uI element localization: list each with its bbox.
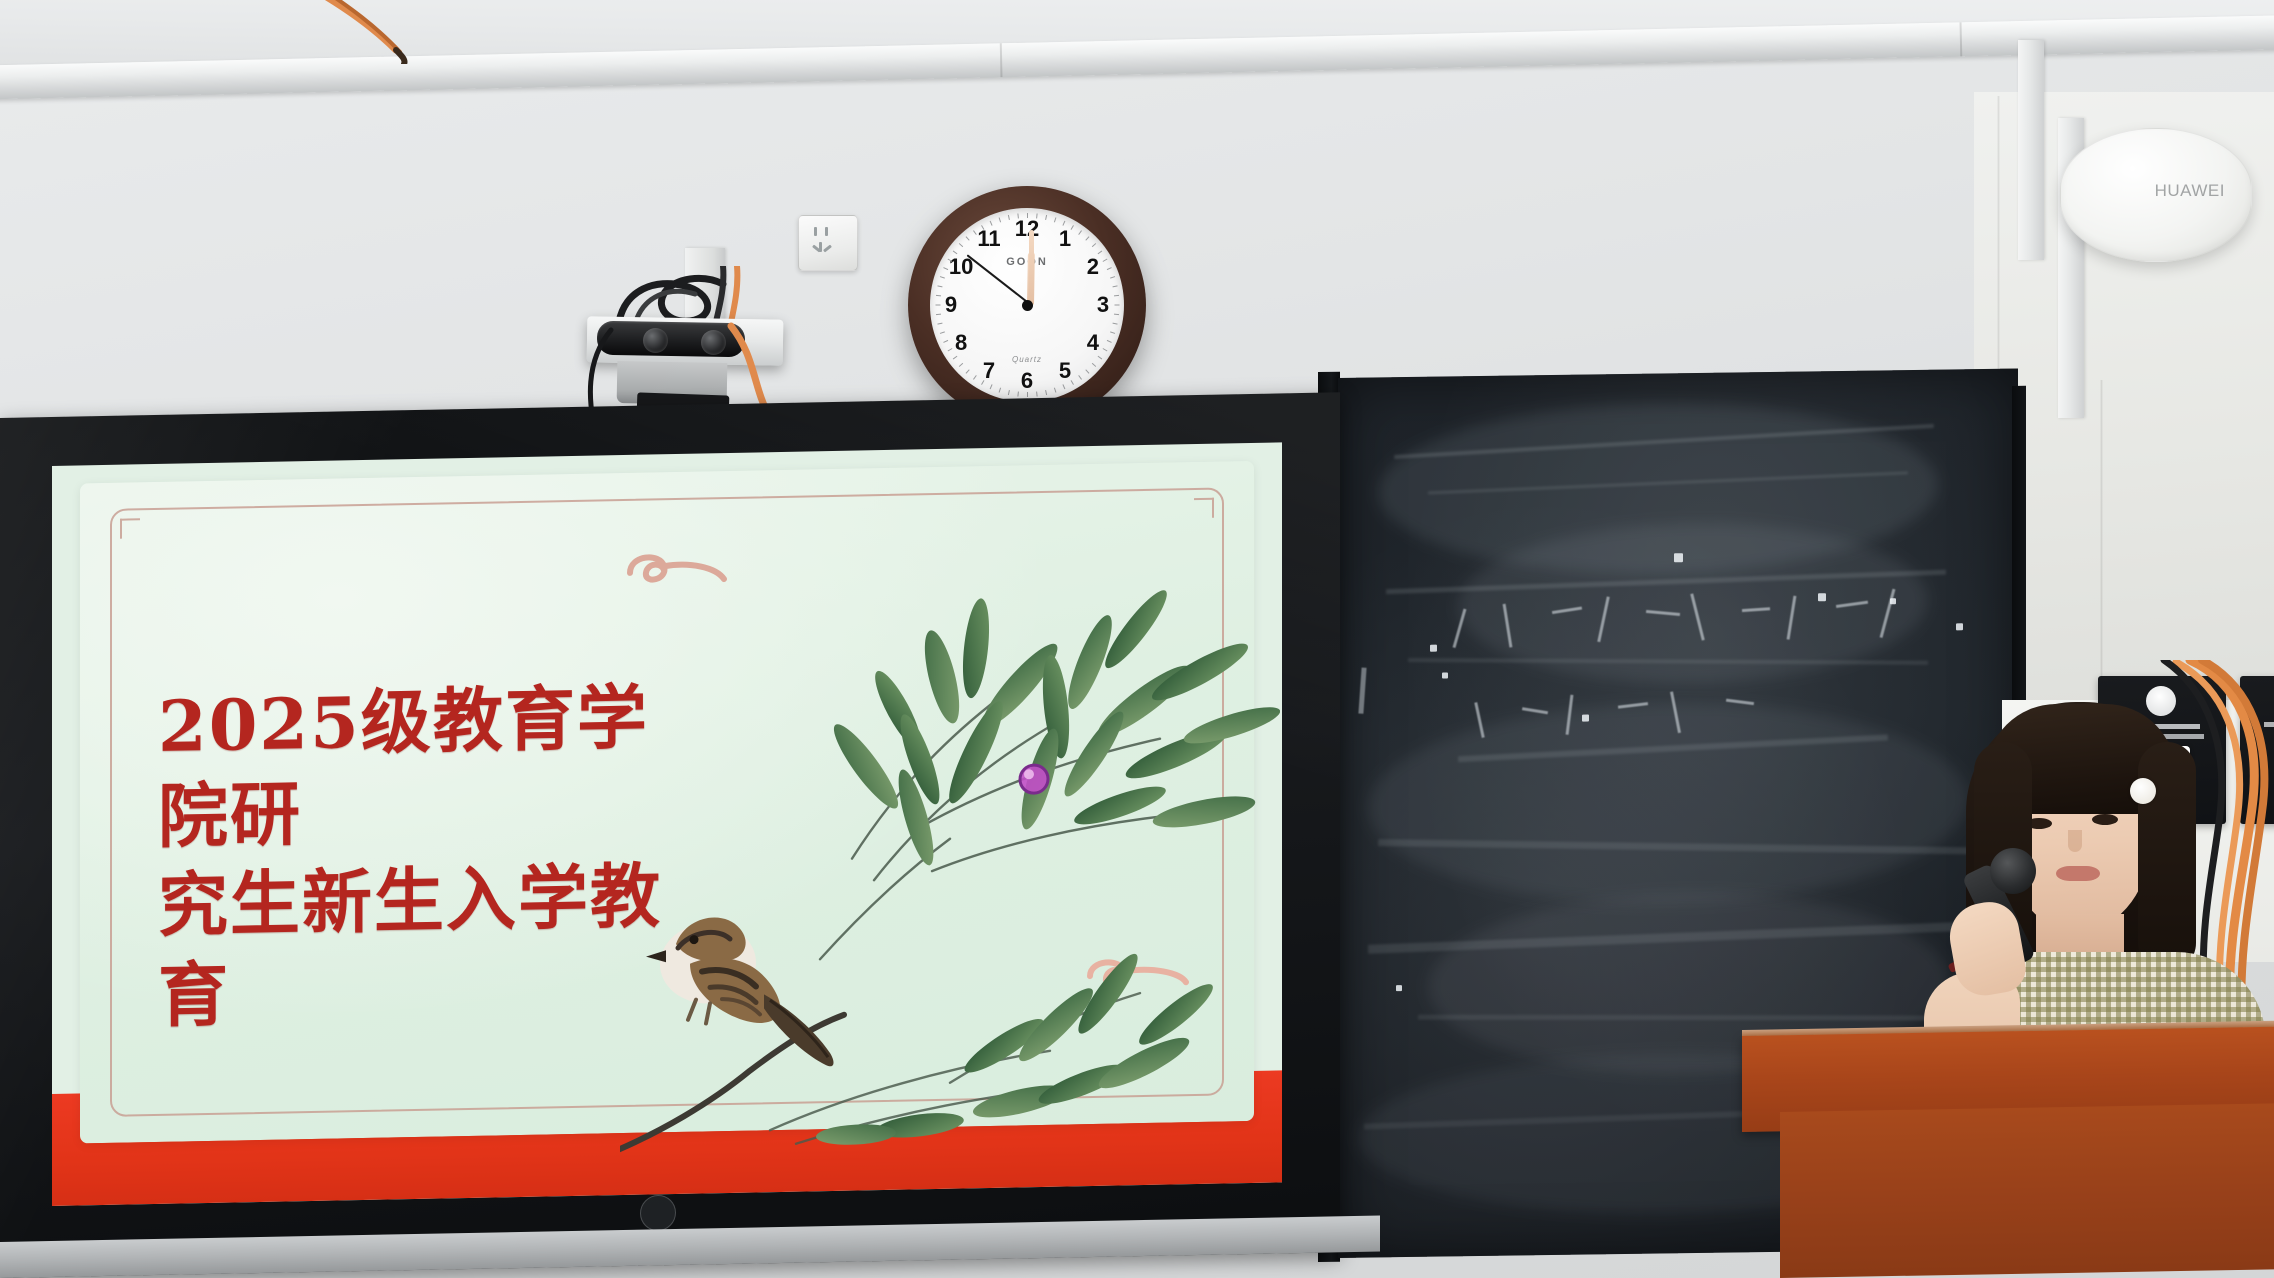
presenter-mouth	[2056, 866, 2100, 881]
clock-numeral-4: 4	[1080, 332, 1106, 354]
slide-title-line-2: 究生新生入学教育	[158, 851, 678, 1040]
presenter-hair-side-right	[2138, 742, 2196, 972]
wifi-access-point: HUAWEI	[2060, 128, 2252, 262]
wall-clock: GOON Quartz 121234567891011	[908, 186, 1146, 424]
ink-wash-bamboo-and-sparrow	[620, 520, 1280, 1153]
sparrow-icon	[646, 915, 833, 1070]
slide-title: 2025级教育学院研 究生新生入学教育	[158, 672, 678, 1040]
microphone-head-icon	[1990, 848, 2036, 894]
clock-numeral-5: 5	[1052, 360, 1078, 382]
clock-numeral-6: 6	[1014, 370, 1040, 392]
wifi-ap-brand: HUAWEI	[2155, 181, 2225, 201]
bamboo-leaves-lower	[816, 946, 1219, 1146]
wall-conduit-1	[2018, 40, 2044, 260]
clock-sub-label: Quartz	[930, 355, 1124, 364]
clock-numeral-12: 12	[1014, 218, 1040, 240]
slide-title-line-1: 2025级教育学院研	[158, 672, 678, 861]
clock-center-pin	[1022, 300, 1033, 311]
bamboo-leaves-upper	[826, 582, 1280, 870]
projector-lens-1	[643, 328, 668, 353]
clock-numeral-3: 3	[1090, 294, 1116, 316]
slide-corner-notch-tr	[1194, 498, 1214, 518]
clock-numeral-8: 8	[948, 332, 974, 354]
clock-numeral-9: 9	[938, 294, 964, 316]
slide-card: 2025级教育学院研 究生新生入学教育	[80, 461, 1254, 1144]
presentation-slide[interactable]: 2025级教育学院研 究生新生入学教育	[52, 442, 1282, 1206]
lectern-body	[1780, 1103, 2274, 1278]
clock-numeral-7: 7	[976, 360, 1002, 382]
clock-face: GOON Quartz 121234567891011	[930, 208, 1124, 402]
classroom-photo-scene: HUAWEI GOON Quartz	[0, 0, 2274, 1278]
clock-numeral-11: 11	[976, 228, 1002, 250]
presenter-nose	[2068, 830, 2082, 852]
wall-power-socket[interactable]	[798, 215, 858, 271]
laser-pointer-dot-icon	[1020, 765, 1048, 794]
clock-numeral-1: 1	[1052, 228, 1078, 250]
slide-corner-notch-tl	[120, 518, 140, 538]
flower-hairclip-icon	[2130, 778, 2156, 804]
presenter-eye-right	[2092, 814, 2118, 825]
clock-numeral-2: 2	[1080, 256, 1106, 278]
hanging-cable-icon	[300, 0, 460, 64]
chinese-cloud-swirl-icon	[630, 556, 724, 581]
clock-minute-hand	[1029, 230, 1034, 305]
projector-lens-2	[701, 330, 726, 355]
